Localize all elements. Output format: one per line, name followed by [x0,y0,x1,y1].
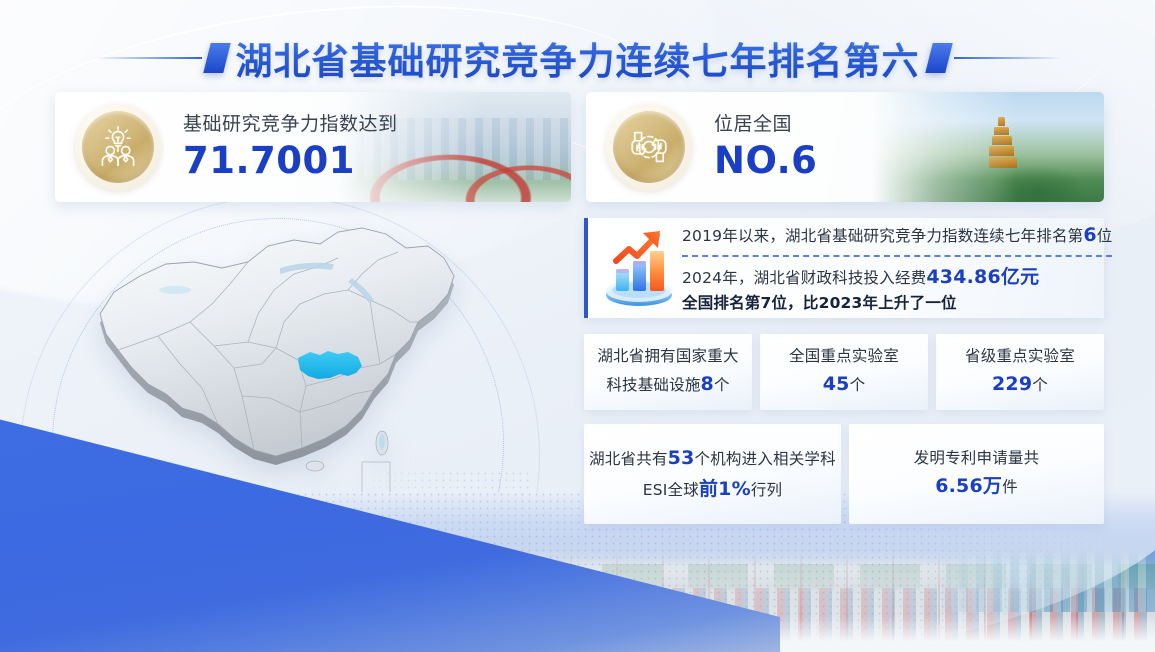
stat-number: 45 [823,373,850,395]
stat-number-2: 前1% [699,478,751,500]
stat-text-2: 个机构进入相关学科 [695,450,836,468]
stat-unit: 个 [714,376,730,394]
hero-label-2: 位居全国 [714,113,817,137]
stat-number: 229 [992,373,1032,395]
info-line-2a: 2024年，湖北省财政科技投入经费 [682,269,926,287]
growth-bar-chart-icon [596,225,682,311]
hero-card-rank[interactable]: 位居全国 NO.6 [586,92,1104,202]
stat-unit: 件 [1002,478,1018,496]
hero-card-index[interactable]: 基础研究竞争力指数达到 71.7001 [55,92,571,202]
info-line-1: 2019年以来，湖北省基础研究竞争力指数连续七年排名第6位 [682,222,1112,256]
info-line-1b: 位 [1097,227,1113,245]
coin-face-1 [82,111,154,183]
stat-text-3: ESI全球 [643,481,699,499]
stat-unit: 行列 [751,481,782,499]
stat-card-line-2: 45个 [823,369,866,400]
stat-card-line-1: 省级重点实验室 [965,344,1075,369]
stat-text: 湖北省共有 [589,450,668,468]
hero-text-1: 基础研究竞争力指数达到 71.7001 [183,113,398,181]
stat-card-line-1: 湖北省拥有国家重大 [597,344,738,369]
info-line-1a: 2019年以来，湖北省基础研究竞争力指数连续七年排名第 [682,227,1083,245]
stat-card-infrastructure[interactable]: 湖北省拥有国家重大 科技基础设施8个 [584,334,752,410]
coin-face-2 [613,111,685,183]
info-panel-divider [682,255,1112,257]
stat-number: 6.56万 [935,475,1002,497]
stat-card-line-1: 湖北省共有53个机构进入相关学科 [589,443,836,474]
stat-number: 53 [668,447,695,469]
stat-card-line-1: 发明专利申请量共 [914,446,1040,471]
stat-card-line-1: 全国重点实验室 [789,344,899,369]
china-map [62,218,532,528]
info-line-3: 全国排名第7位，比2023年上升了一位 [682,292,1112,314]
hero-label-1: 基础研究竞争力指数达到 [183,113,398,137]
info-line-2: 2024年，湖北省财政科技投入经费434.86亿元 [682,264,1112,292]
pagoda-shape [989,117,1015,169]
stat-card-line-2: 229个 [992,369,1048,400]
info-line-2-number: 434.86亿元 [926,266,1039,288]
stat-card-esi[interactable]: 湖北省共有53个机构进入相关学科 ESI全球前1%行列 [584,424,841,524]
hero-value-1: 71.7001 [183,140,398,181]
coin-badge-1 [75,104,161,190]
stat-text: 科技基础设施 [606,376,700,394]
stat-card-provincial-labs[interactable]: 省级重点实验室 229个 [936,334,1104,410]
title-accent-left-icon [203,43,230,73]
stat-card-line-2: 6.56万件 [935,471,1018,502]
yellow-crane-tower-photo [872,92,1104,202]
title-text: 湖北省基础研究竞争力连续七年排名第六 [232,31,924,85]
photo-bottom-fade [0,616,1155,652]
coin-badge-2 [606,104,692,190]
stat-unit: 个 [1032,376,1048,394]
title-rule-right [954,57,1062,59]
title-accent-right-icon [925,43,952,73]
infographic-poster: 湖北省基础研究竞争力连续七年排名第六 [0,0,1155,652]
hero-text-2: 位居全国 NO.6 [714,113,817,181]
stat-card-line-2: ESI全球前1%行列 [643,474,782,505]
stat-number: 8 [701,373,714,395]
teamwork-hands-icon [625,123,673,171]
info-line-1-number: 6 [1083,224,1096,246]
stat-card-national-labs[interactable]: 全国重点实验室 45个 [760,334,928,410]
stat-card-line-2: 科技基础设施8个 [606,369,729,400]
page-title: 湖北省基础研究竞争力连续七年排名第六 [0,34,1155,82]
people-lightbulb-icon [94,123,142,171]
info-panel[interactable]: 2019年以来，湖北省基础研究竞争力指数连续七年排名第6位 2024年，湖北省财… [584,218,1104,318]
stat-card-patents[interactable]: 发明专利申请量共 6.56万件 [849,424,1104,524]
stat-unit: 个 [850,376,866,394]
hero-value-2: NO.6 [714,140,817,181]
title-rule-left [94,57,202,59]
info-panel-text: 2019年以来，湖北省基础研究竞争力指数连续七年排名第6位 2024年，湖北省财… [682,222,1126,315]
